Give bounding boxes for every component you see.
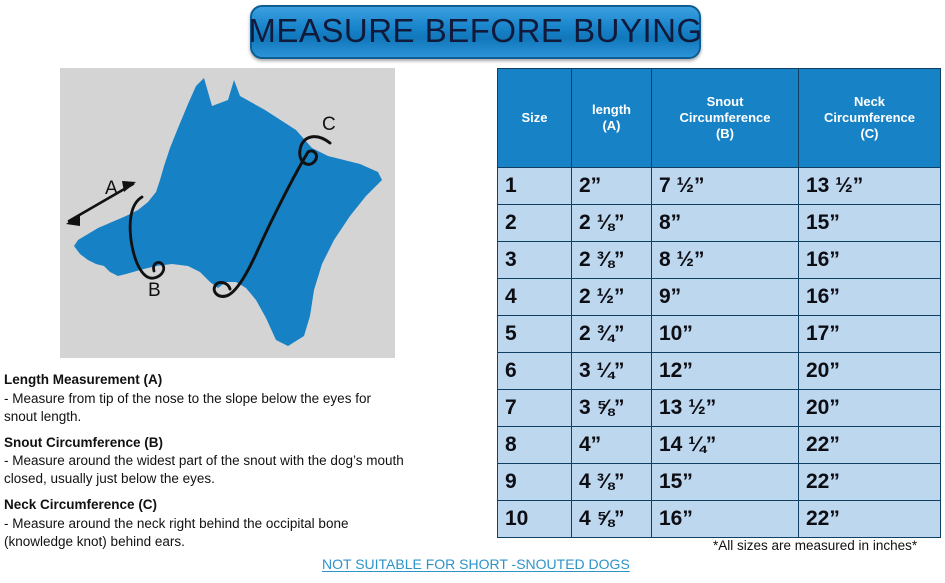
cell-neck: 13 ½”	[799, 168, 941, 205]
dog-measurement-illustration: A B C	[60, 68, 395, 358]
table-row: 52 ¾”10”17”	[498, 316, 941, 353]
table-row: 42 ½”9”16”	[498, 279, 941, 316]
column-header-length: length (A)	[572, 69, 652, 168]
cell-neck: 17”	[799, 316, 941, 353]
cell-neck: 20”	[799, 353, 941, 390]
cell-size: 5	[498, 316, 572, 353]
dog-head-diagram-svg: A B C	[60, 68, 395, 358]
not-suitable-notice: NOT SUITABLE FOR SHORT -SNOUTED DOGS	[322, 556, 630, 572]
instruction-block-neck: Neck Circumference (C) - Measure around …	[4, 497, 484, 551]
cell-length: 2 ⅛”	[572, 205, 652, 242]
cell-snout: 15”	[652, 464, 799, 501]
units-note: *All sizes are measured in inches*	[713, 538, 917, 553]
cell-size: 7	[498, 390, 572, 427]
instruction-body-snout: - Measure around the widest part of the …	[4, 452, 484, 488]
cell-snout: 9”	[652, 279, 799, 316]
column-header-size: Size	[498, 69, 572, 168]
cell-length: 4 ⅝”	[572, 501, 652, 538]
instruction-body-length: - Measure from tip of the nose to the sl…	[4, 390, 484, 426]
cell-neck: 22”	[799, 501, 941, 538]
table-row: 84”14 ¼”22”	[498, 427, 941, 464]
instruction-body-neck: - Measure around the neck right behind t…	[4, 515, 484, 551]
cell-snout: 8 ½”	[652, 242, 799, 279]
instruction-heading-neck: Neck Circumference (C)	[4, 497, 484, 514]
cell-length: 3 ⅝”	[572, 390, 652, 427]
cell-neck: 22”	[799, 464, 941, 501]
column-header-snout-circumference: Snout Circumference (B)	[652, 69, 799, 168]
table-row: 73 ⅝”13 ½”20”	[498, 390, 941, 427]
cell-snout: 16”	[652, 501, 799, 538]
instruction-heading-length: Length Measurement (A)	[4, 372, 484, 389]
cell-snout: 8”	[652, 205, 799, 242]
cell-snout: 7 ½”	[652, 168, 799, 205]
table-row: 12”7 ½”13 ½”	[498, 168, 941, 205]
size-chart-table: Size length (A) Snout Circumference (B) …	[497, 68, 941, 538]
label-c-text: C	[322, 114, 336, 135]
cell-size: 10	[498, 501, 572, 538]
cell-length: 4 ⅜”	[572, 464, 652, 501]
table-row: 32 ⅜”8 ½”16”	[498, 242, 941, 279]
label-b-text: B	[148, 280, 161, 301]
cell-neck: 22”	[799, 427, 941, 464]
cell-snout: 10”	[652, 316, 799, 353]
measurement-instructions: Length Measurement (A) - Measure from ti…	[4, 372, 484, 560]
instruction-heading-snout: Snout Circumference (B)	[4, 435, 484, 452]
table-header-row: Size length (A) Snout Circumference (B) …	[498, 69, 941, 168]
cell-snout: 14 ¼”	[652, 427, 799, 464]
size-chart-body: 12”7 ½”13 ½”22 ⅛”8”15”32 ⅜”8 ½”16”42 ½”9…	[498, 168, 941, 538]
cell-snout: 12”	[652, 353, 799, 390]
cell-length: 2”	[572, 168, 652, 205]
cell-neck: 16”	[799, 279, 941, 316]
cell-neck: 15”	[799, 205, 941, 242]
table-row: 104 ⅝”16”22”	[498, 501, 941, 538]
cell-size: 4	[498, 279, 572, 316]
table-row: 94 ⅜”15”22”	[498, 464, 941, 501]
cell-neck: 16”	[799, 242, 941, 279]
cell-length: 2 ⅜”	[572, 242, 652, 279]
table-row: 63 ¼”12”20”	[498, 353, 941, 390]
cell-length: 3 ¼”	[572, 353, 652, 390]
cell-size: 9	[498, 464, 572, 501]
page-title: MEASURE BEFORE BUYING	[248, 14, 702, 50]
cell-neck: 20”	[799, 390, 941, 427]
cell-size: 1	[498, 168, 572, 205]
table-row: 22 ⅛”8”15”	[498, 205, 941, 242]
page-title-banner: MEASURE BEFORE BUYING	[250, 5, 701, 59]
label-a-text: A	[105, 178, 118, 199]
cell-size: 2	[498, 205, 572, 242]
column-header-neck-circumference: Neck Circumference (C)	[799, 69, 941, 168]
dog-head-silhouette	[74, 78, 382, 346]
cell-size: 6	[498, 353, 572, 390]
instruction-block-snout: Snout Circumference (B) - Measure around…	[4, 435, 484, 489]
cell-length: 2 ¾”	[572, 316, 652, 353]
label-a-arrowhead-left	[66, 214, 80, 226]
cell-size: 3	[498, 242, 572, 279]
cell-snout: 13 ½”	[652, 390, 799, 427]
cell-length: 2 ½”	[572, 279, 652, 316]
cell-length: 4”	[572, 427, 652, 464]
cell-size: 8	[498, 427, 572, 464]
instruction-block-length: Length Measurement (A) - Measure from ti…	[4, 372, 484, 426]
label-a-arrowhead-right	[122, 181, 136, 192]
